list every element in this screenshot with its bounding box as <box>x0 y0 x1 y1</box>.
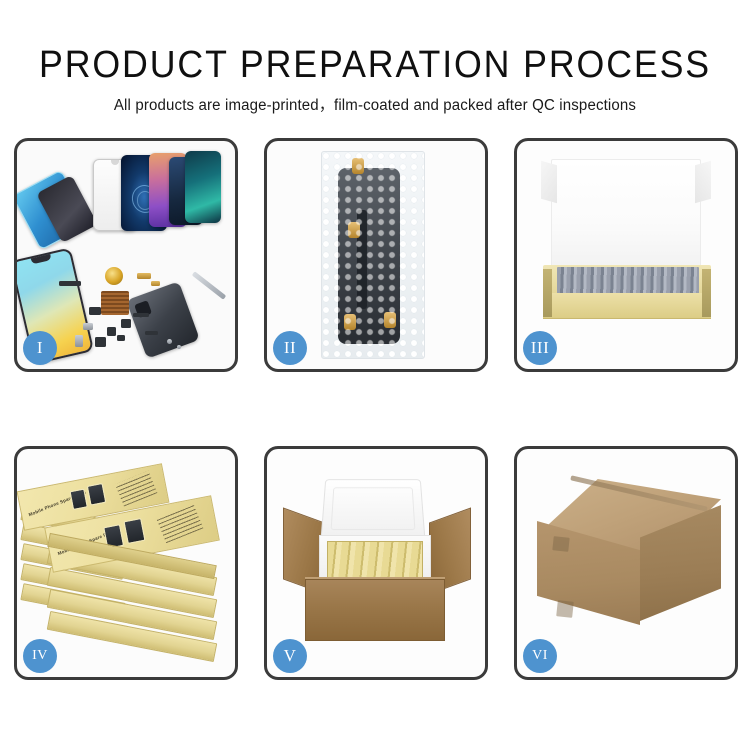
step-panel-5: V <box>264 446 488 680</box>
gold-tab-mid <box>348 222 360 238</box>
phone-back-housing <box>126 281 200 358</box>
step-panel-1: I <box>14 138 238 372</box>
part-screw-2 <box>177 345 181 349</box>
carton-body <box>305 579 445 641</box>
lid-flap-right <box>695 161 711 204</box>
gold-tab-bottom-right <box>384 312 396 328</box>
bubble-wrap-bag <box>321 151 425 359</box>
header: PRODUCT PREPARATION PROCESS All products… <box>0 0 750 114</box>
step-panel-6: VI <box>514 446 738 680</box>
step-badge-5: V <box>273 639 307 673</box>
step-badge-6: VI <box>523 639 557 673</box>
part-metal-shield <box>83 323 93 330</box>
step-badge-3: III <box>523 331 557 365</box>
part-battery-connector <box>117 335 125 341</box>
gold-coil-part <box>105 267 123 285</box>
gold-tab-top <box>352 158 364 174</box>
step-badge-1: I <box>23 331 57 365</box>
page-subtitle: All products are image-printed，film-coat… <box>11 98 739 114</box>
product-preparation-infographic: PRODUCT PREPARATION PROCESS All products… <box>0 0 750 750</box>
tweezers-icon <box>192 271 227 300</box>
part-camera-module <box>95 337 106 347</box>
part-small-square <box>107 327 116 336</box>
phone-teal <box>185 151 221 223</box>
lid-flap-left <box>541 161 557 204</box>
step-badge-4: IV <box>23 639 57 673</box>
carton-tape-upper <box>552 536 569 552</box>
part-gold-bracket <box>137 273 151 279</box>
process-steps-grid: I II <box>14 138 738 680</box>
part-gold-clip <box>151 281 160 286</box>
part-speaker <box>75 335 83 347</box>
white-box-lid <box>551 159 701 275</box>
step-panel-3: III <box>514 138 738 372</box>
gold-tab-bottom-left <box>344 314 356 330</box>
part-ic-chip <box>121 319 131 328</box>
foam-lid <box>321 479 426 539</box>
page-title: PRODUCT PREPARATION PROCESS <box>23 46 728 84</box>
kraft-box-front <box>543 293 711 319</box>
part-flex-cable <box>133 313 149 317</box>
box-corner-left <box>543 269 552 317</box>
box-corner-right <box>702 269 711 317</box>
part-connector <box>89 307 101 315</box>
copper-contact-pad <box>101 291 129 315</box>
step-badge-2: II <box>273 331 307 365</box>
step-panel-2: II <box>264 138 488 372</box>
step-panel-4: Mobile Phone Spare Parts Mobile Phone Sp… <box>14 446 238 680</box>
carton-tape-lower <box>556 600 574 618</box>
part-button-flex <box>145 331 158 335</box>
part-chip <box>59 281 81 286</box>
part-screw <box>167 339 172 344</box>
